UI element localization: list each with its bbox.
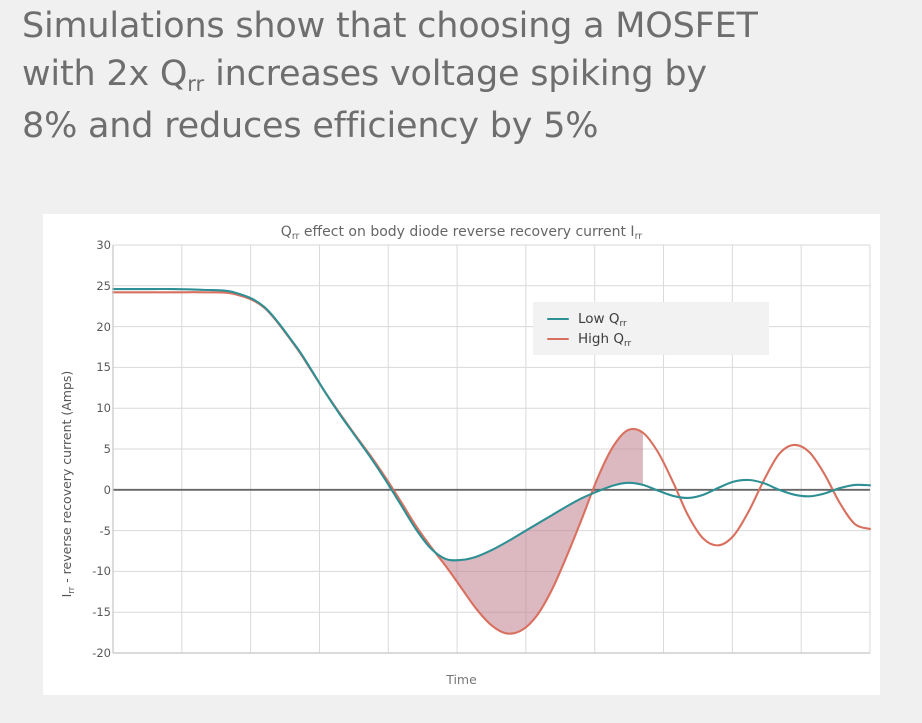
legend-label-high-qrr: High Qrr [578,331,631,347]
x-axis-label: Time [43,672,880,687]
legend-item-low-qrr[interactable]: Low Qrr [547,309,627,329]
plot-area [43,214,880,695]
headline-line-2-part-b: increases voltage spiking by [204,54,707,94]
legend-label-low-qrr: Low Qrr [578,311,627,327]
page-headline: Simulations show that choosing a MOSFET … [22,2,892,150]
legend-swatch-high-qrr [547,338,569,340]
headline-line-2-part-a: with 2x Q [22,54,187,94]
chart-card: Qrr effect on body diode reverse recover… [43,214,880,695]
headline-subscript-rr: rr [187,72,204,96]
legend-swatch-low-qrr [547,318,569,320]
headline-line-3: 8% and reduces efficiency by 5% [22,106,598,146]
chart-svg [43,214,880,695]
headline-line-1: Simulations show that choosing a MOSFET [22,6,758,46]
legend-item-high-qrr[interactable]: High Qrr [547,329,631,349]
chart-legend: Low Qrr High Qrr [533,302,769,355]
